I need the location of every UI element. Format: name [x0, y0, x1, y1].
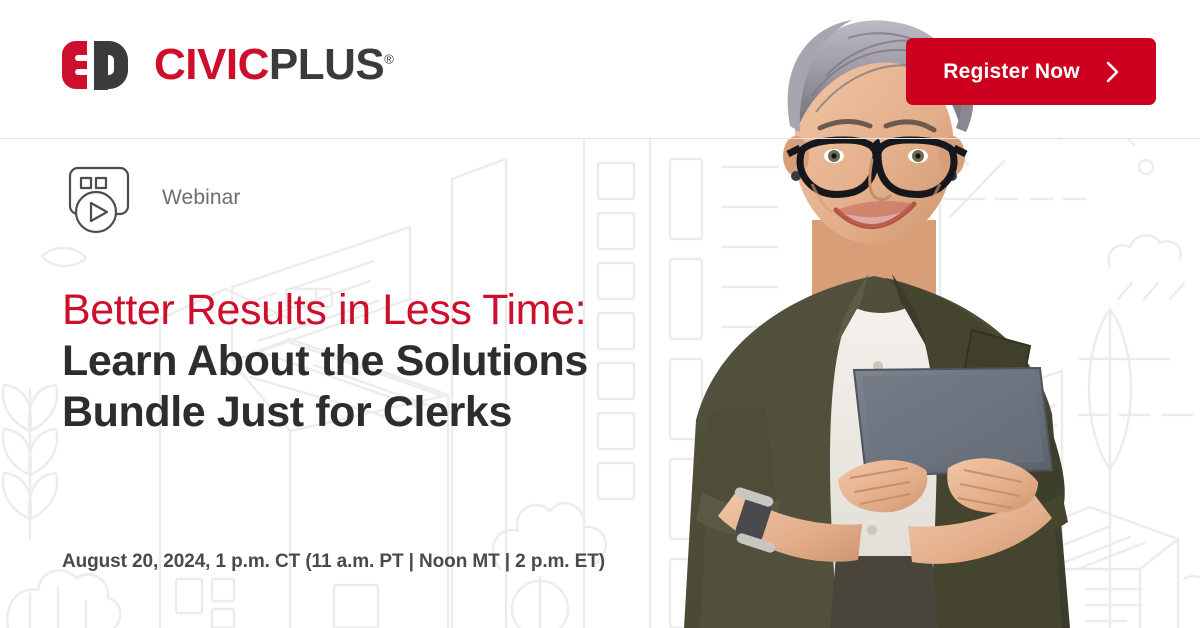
- headline-line-2: Learn About the Solutions: [62, 336, 702, 387]
- register-now-label: Register Now: [943, 60, 1080, 84]
- civicplus-logo[interactable]: CIVICPLUS®: [62, 40, 393, 90]
- banner-content: Webinar Better Results in Less Time: Lea…: [62, 139, 702, 460]
- webinar-promo-banner: CIVICPLUS® Register Now: [0, 0, 1200, 628]
- eyebrow-label: Webinar: [162, 186, 241, 210]
- webinar-play-icon: [62, 160, 138, 236]
- banner-header: CIVICPLUS® Register Now: [0, 0, 1200, 139]
- register-now-button[interactable]: Register Now: [906, 38, 1156, 105]
- content-type-eyebrow: Webinar: [62, 160, 702, 236]
- civicplus-wordmark: CIVICPLUS®: [154, 43, 393, 87]
- logo-word-civic: CIVIC: [154, 40, 269, 89]
- headline-line-3: Bundle Just for Clerks: [62, 387, 702, 438]
- headline-line-1: Better Results in Less Time:: [62, 285, 702, 336]
- registered-trademark-icon: ®: [384, 51, 393, 66]
- chevron-right-icon: [1106, 61, 1119, 83]
- page-title: Better Results in Less Time: Learn About…: [62, 285, 702, 438]
- logo-word-plus: PLUS: [269, 40, 384, 89]
- civicplus-cp-mark-icon: [62, 40, 136, 90]
- event-datetime: August 20, 2024, 1 p.m. CT (11 a.m. PT |…: [62, 551, 605, 573]
- header-divider: [0, 138, 1200, 139]
